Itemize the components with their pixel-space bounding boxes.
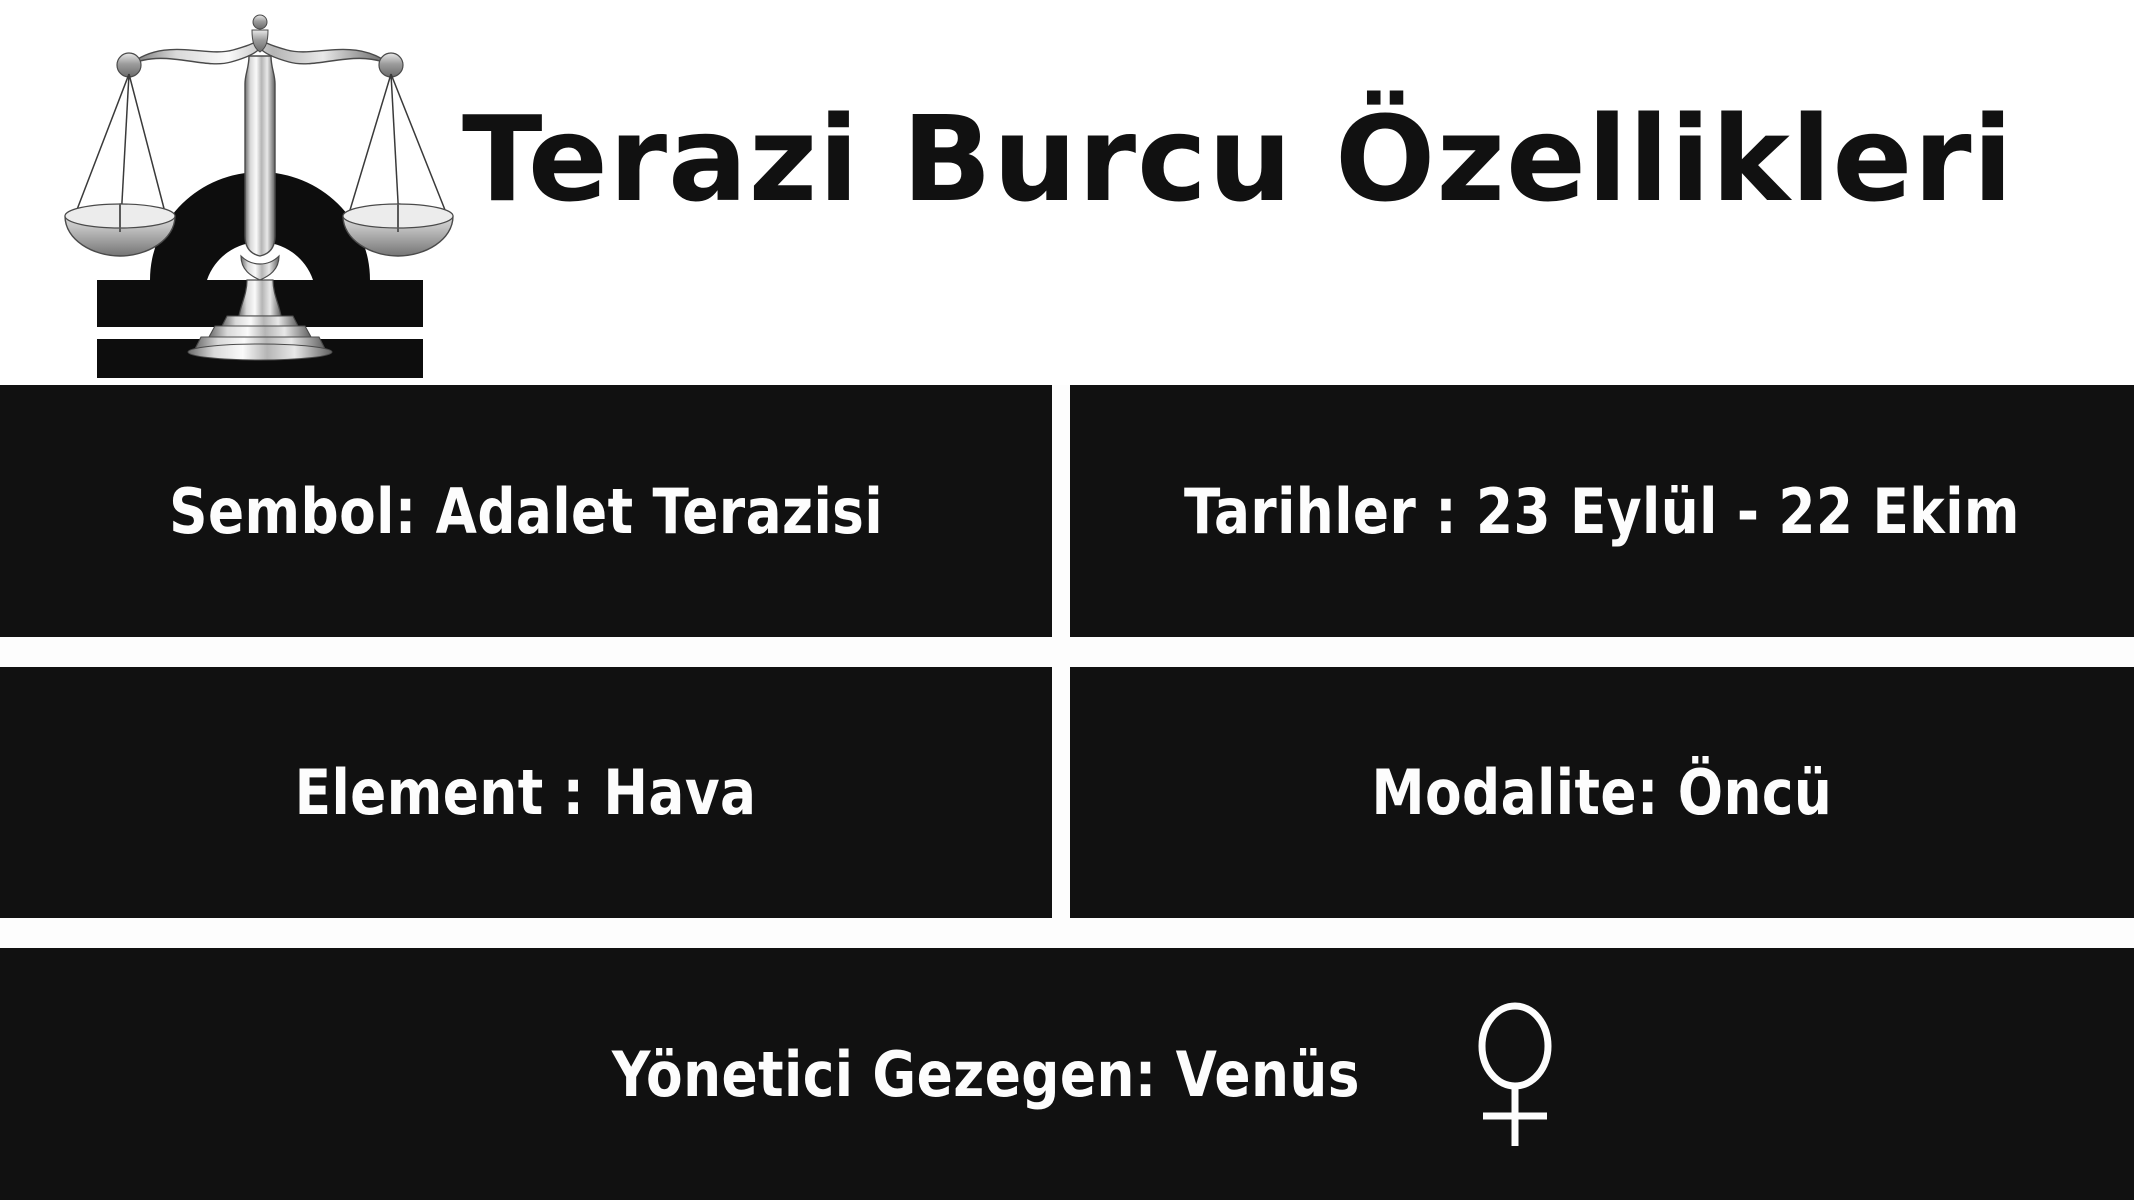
card-ruling-planet: Yönetici Gezegen: Venüs bbox=[0, 948, 2134, 1200]
ruling-planet-content: Yönetici Gezegen: Venüs bbox=[551, 999, 1563, 1149]
libra-scales-icon bbox=[55, 8, 465, 378]
card-modality-label: Modalite: Öncü bbox=[1372, 756, 1833, 829]
card-ruling-planet-label: Yönetici Gezegen: Venüs bbox=[612, 1038, 1360, 1111]
card-modality: Modalite: Öncü bbox=[1070, 667, 2134, 918]
card-element: Element : Hava bbox=[0, 667, 1052, 918]
header: Terazi Burcu Özellikleri bbox=[0, 0, 2134, 385]
card-dates-label: Tarihler : 23 Eylül - 22 Ekim bbox=[1184, 475, 2020, 548]
infographic-page: Terazi Burcu Özellikleri Sembol: Adalet … bbox=[0, 0, 2134, 1200]
card-symbol-label: Sembol: Adalet Terazisi bbox=[169, 475, 883, 548]
page-title: Terazi Burcu Özellikleri bbox=[462, 84, 2014, 234]
card-symbol: Sembol: Adalet Terazisi bbox=[0, 385, 1052, 637]
card-element-label: Element : Hava bbox=[295, 756, 757, 829]
card-dates: Tarihler : 23 Eylül - 22 Ekim bbox=[1070, 385, 2134, 637]
venus-symbol-icon bbox=[1467, 999, 1563, 1149]
attributes-grid: Sembol: Adalet Terazisi Tarihler : 23 Ey… bbox=[0, 385, 2134, 1200]
